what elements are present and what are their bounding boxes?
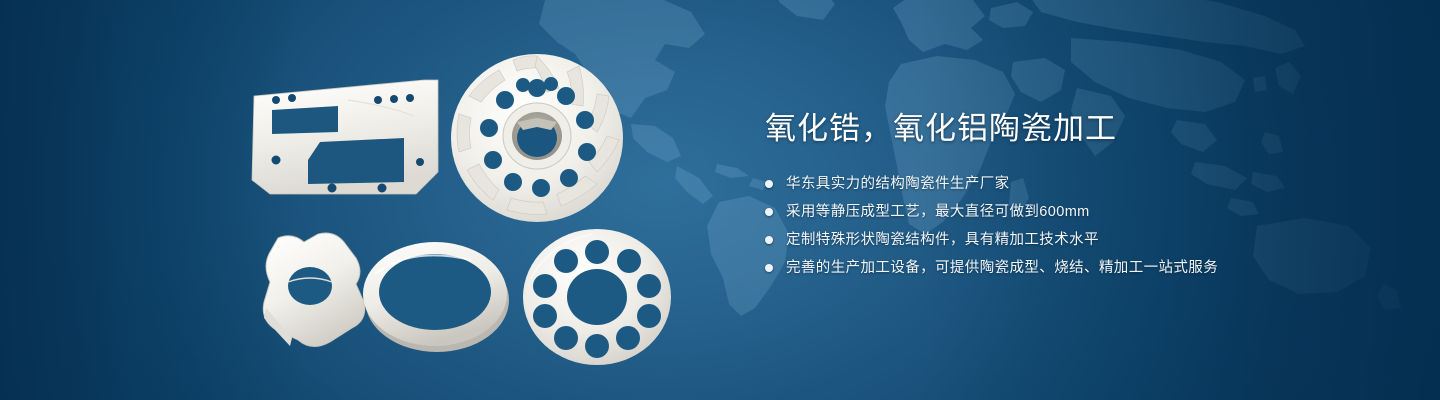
list-item: 定制特殊形状陶瓷结构件，具有精加工技术水平 xyxy=(765,230,1385,250)
bullet-dot-icon xyxy=(765,208,773,216)
promo-banner: 氧化锆，氧化铝陶瓷加工 华东具实力的结构陶瓷件生产厂家 采用等静压成型工艺，最大… xyxy=(0,0,1440,400)
ceramic-impeller-image xyxy=(447,48,627,226)
ceramic-flat-plate-image xyxy=(248,76,440,198)
list-item: 完善的生产加工设备，可提供陶瓷成型、烧结、精加工一站式服务 xyxy=(765,258,1385,278)
list-item-label: 华东具实力的结构陶瓷件生产厂家 xyxy=(786,174,1010,194)
list-item: 华东具实力的结构陶瓷件生产厂家 xyxy=(765,174,1385,194)
bullet-dot-icon xyxy=(765,264,773,272)
ceramic-perforated-disc-image xyxy=(521,226,673,368)
list-item: 采用等静压成型工艺，最大直径可做到600mm xyxy=(765,202,1385,222)
bullet-dot-icon xyxy=(765,180,773,188)
list-item-label: 完善的生产加工设备，可提供陶瓷成型、烧结、精加工一站式服务 xyxy=(786,258,1218,278)
ceramic-ring-image xyxy=(355,230,515,356)
list-item-label: 定制特殊形状陶瓷结构件，具有精加工技术水平 xyxy=(786,230,1099,250)
feature-list: 华东具实力的结构陶瓷件生产厂家 采用等静压成型工艺，最大直径可做到600mm 定… xyxy=(765,174,1385,278)
bullet-dot-icon xyxy=(765,236,773,244)
page-title: 氧化锆，氧化铝陶瓷加工 xyxy=(765,108,1385,150)
list-item-label: 采用等静压成型工艺，最大直径可做到600mm xyxy=(786,202,1090,222)
banner-copy: 氧化锆，氧化铝陶瓷加工 华东具实力的结构陶瓷件生产厂家 采用等静压成型工艺，最大… xyxy=(765,108,1385,286)
